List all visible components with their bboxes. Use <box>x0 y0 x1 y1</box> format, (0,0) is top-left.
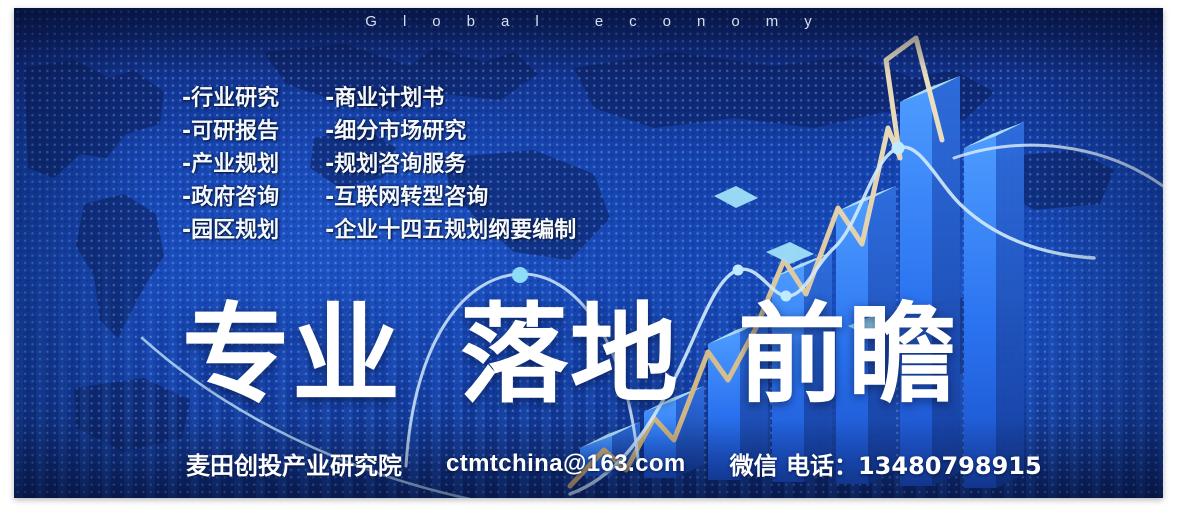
headline-word: 前瞻 <box>738 304 958 408</box>
headline-word: 落地 <box>460 304 680 408</box>
service-item: -规划咨询服务 <box>325 150 576 180</box>
top-caption: Global economy <box>14 13 1163 30</box>
vignette-overlay <box>14 8 1163 498</box>
organization-name: 麦田创投产业研究院 <box>186 446 402 481</box>
services-left-column: -行业研究 -可研报告 -产业规划 -政府咨询 -园区规划 <box>182 84 279 246</box>
service-item: -产业规划 <box>182 150 279 180</box>
service-item: -细分市场研究 <box>325 117 576 147</box>
service-item: -政府咨询 <box>182 183 279 213</box>
headline-word: 专业 <box>182 304 402 408</box>
service-item: -行业研究 <box>182 84 279 114</box>
service-item: -企业十四五规划纲要编制 <box>325 216 576 246</box>
promotional-banner: Global economy -行业研究 -可研报告 -产业规划 -政府咨询 -… <box>14 8 1163 498</box>
headline-slogan: 专业 落地 前瞻 <box>182 304 958 408</box>
phone-number: 微信 电话：13480798915 <box>730 446 1042 481</box>
service-item: -互联网转型咨询 <box>325 183 576 213</box>
service-item: -园区规划 <box>182 216 279 246</box>
service-item: -商业计划书 <box>325 84 576 114</box>
contact-bar: 麦田创投产业研究院 ctmtchina@163.com 微信 电话：134807… <box>186 446 1042 481</box>
service-item: -可研报告 <box>182 117 279 147</box>
services-lists: -行业研究 -可研报告 -产业规划 -政府咨询 -园区规划 -商业计划书 -细分… <box>182 84 576 246</box>
services-right-column: -商业计划书 -细分市场研究 -规划咨询服务 -互联网转型咨询 -企业十四五规划… <box>325 84 576 246</box>
email-address: ctmtchina@163.com <box>446 450 686 478</box>
